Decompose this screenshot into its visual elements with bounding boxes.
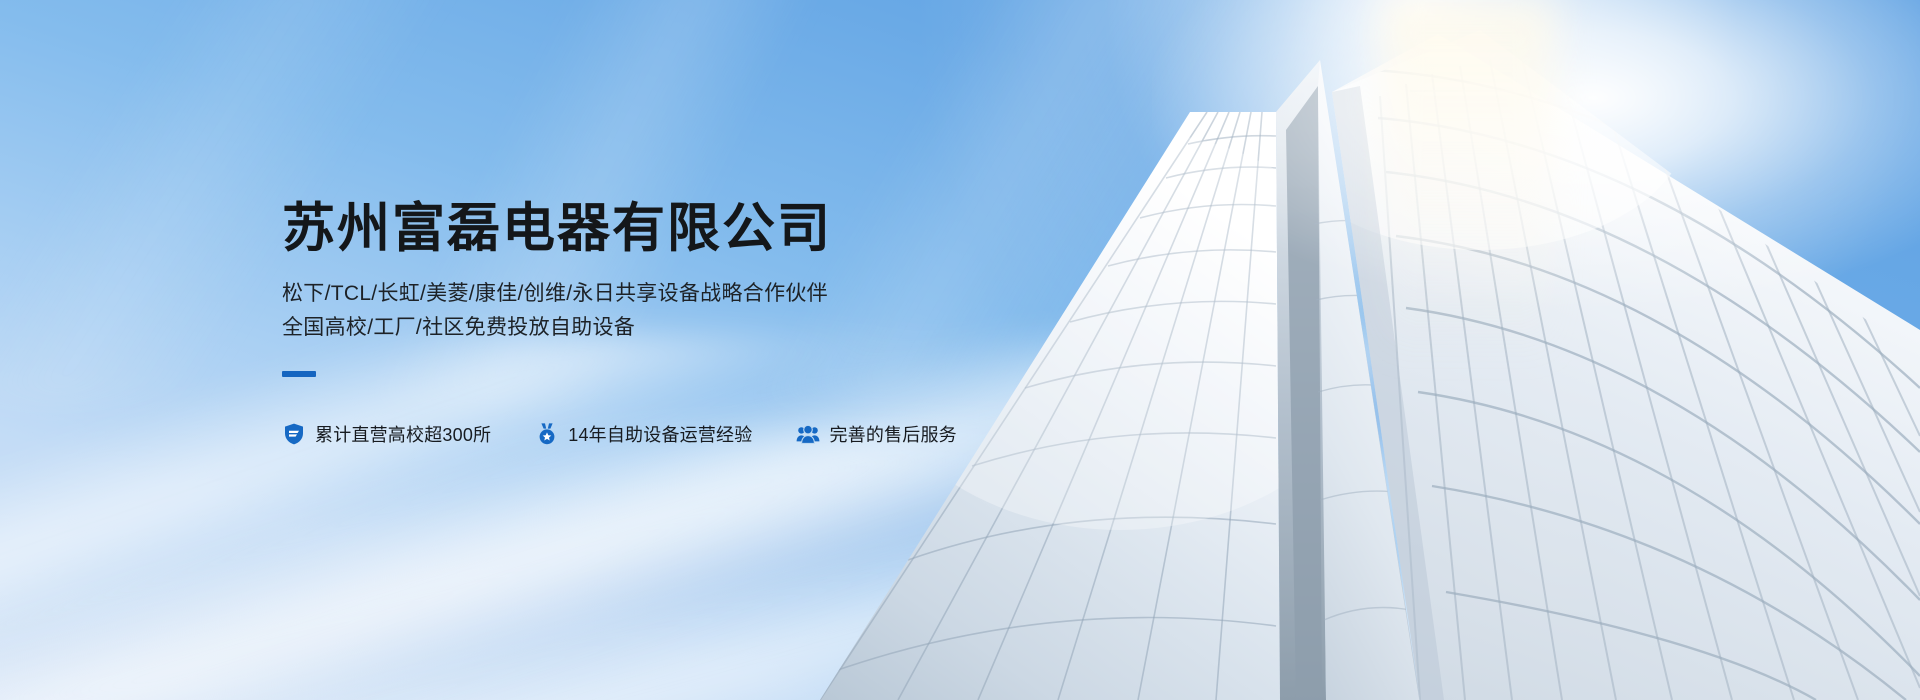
feature-label-campuses: 累计直营高校超300所: [315, 421, 491, 447]
company-title: 苏州富磊电器有限公司: [282, 200, 1042, 258]
feature-label-experience: 14年自助设备运营经验: [568, 421, 752, 447]
people-icon: [796, 422, 820, 446]
feature-item-experience: 14年自助设备运营经验: [535, 421, 752, 447]
feature-item-service: 完善的售后服务: [796, 421, 956, 447]
feature-list: 累计直营高校超300所 14年自助设备运营经验: [282, 421, 1042, 447]
accent-divider: [282, 371, 316, 377]
medal-icon: [535, 422, 559, 446]
hero-banner: 苏州富磊电器有限公司 松下/TCL/长虹/美菱/康佳/创维/永日共享设备战略合作…: [0, 0, 1920, 700]
subtitle-line-2: 全国高校/工厂/社区免费投放自助设备: [282, 311, 1042, 345]
banner-content: 苏州富磊电器有限公司 松下/TCL/长虹/美菱/康佳/创维/永日共享设备战略合作…: [282, 200, 1042, 447]
shield-icon: [282, 422, 306, 446]
subtitle-group: 松下/TCL/长虹/美菱/康佳/创维/永日共享设备战略合作伙伴 全国高校/工厂/…: [282, 277, 1042, 345]
subtitle-line-1: 松下/TCL/长虹/美菱/康佳/创维/永日共享设备战略合作伙伴: [282, 277, 1042, 311]
feature-item-campuses: 累计直营高校超300所: [282, 421, 491, 447]
feature-label-service: 完善的售后服务: [829, 421, 956, 447]
